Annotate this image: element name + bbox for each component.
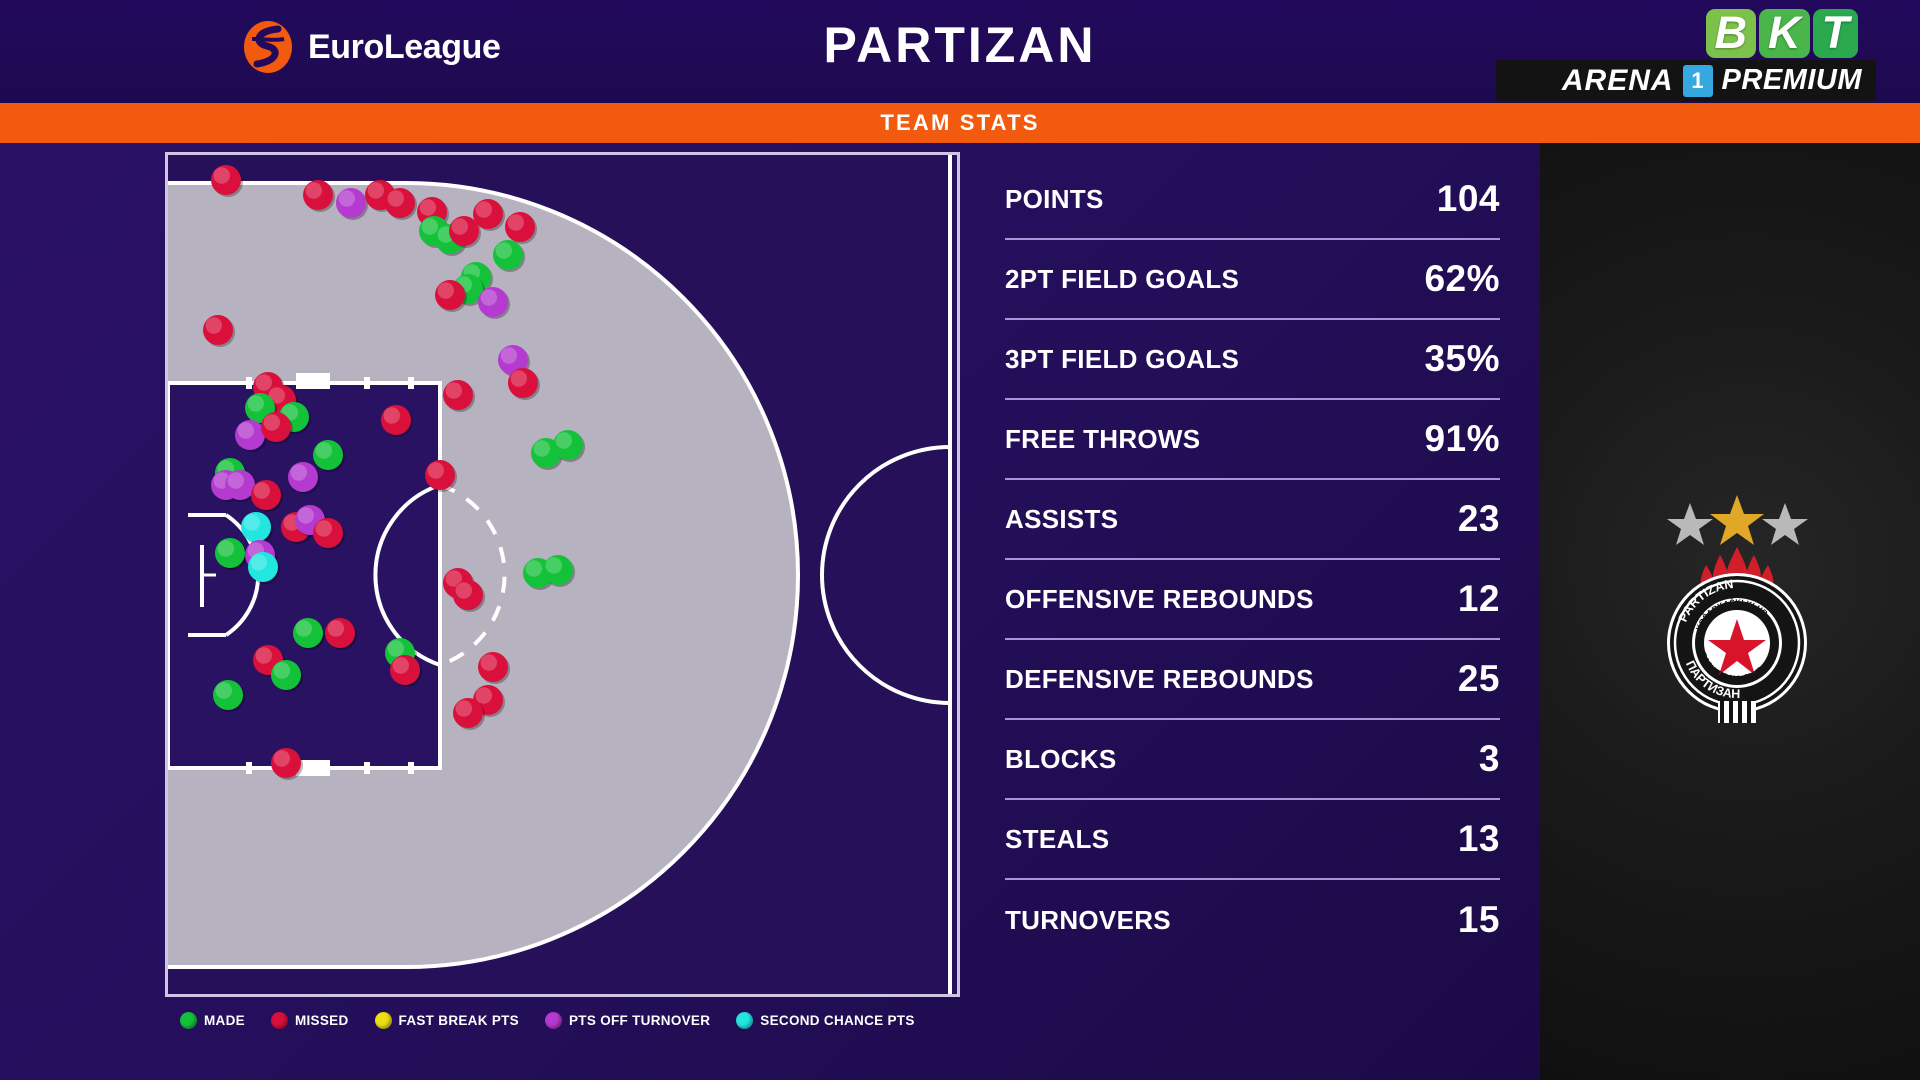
stat-value: 62% [1424, 258, 1500, 300]
bkt-letter-k: K [1759, 9, 1810, 58]
stat-label: FREE THROWS [1005, 424, 1200, 455]
legend-label: SECOND CHANCE PTS [760, 1013, 914, 1028]
stat-row: BLOCKS3 [1005, 720, 1500, 800]
stat-value: 104 [1437, 178, 1500, 220]
shot-chart-legend: MADEMISSEDFAST BREAK PTSPTS OFF TURNOVER… [180, 1005, 970, 1035]
broadcast-graphic: EuroLeague PARTIZAN B K T ARENA 1 PREMIU… [0, 0, 1920, 1080]
channel-number-badge: 1 [1683, 65, 1713, 97]
banner-label: TEAM STATS [880, 110, 1039, 136]
team-stats-list: POINTS1042PT FIELD GOALS62%3PT FIELD GOA… [1005, 160, 1500, 960]
stat-label: 2PT FIELD GOALS [1005, 264, 1239, 295]
stat-row: 2PT FIELD GOALS62% [1005, 240, 1500, 320]
stat-label: 3PT FIELD GOALS [1005, 344, 1239, 375]
stat-value: 91% [1424, 418, 1500, 460]
bkt-letter-t: T [1813, 9, 1859, 58]
top-bar: EuroLeague PARTIZAN B K T ARENA 1 PREMIU… [0, 0, 1920, 103]
stat-label: ASSISTS [1005, 504, 1118, 535]
stat-value: 12 [1458, 578, 1500, 620]
legend-dot-icon [180, 1012, 197, 1029]
team-stats-banner: TEAM STATS [0, 103, 1920, 143]
stat-row: FREE THROWS91% [1005, 400, 1500, 480]
legend-item: MADE [180, 1012, 245, 1029]
arena-label: ARENA [1562, 64, 1674, 98]
stat-label: OFFENSIVE REBOUNDS [1005, 584, 1314, 615]
legend-label: FAST BREAK PTS [399, 1013, 519, 1028]
stat-row: DEFENSIVE REBOUNDS25 [1005, 640, 1500, 720]
crest-base-stripes [1718, 701, 1756, 723]
court-diagram [168, 155, 957, 994]
stat-value: 15 [1458, 899, 1500, 941]
stat-row: OFFENSIVE REBOUNDS12 [1005, 560, 1500, 640]
stat-label: STEALS [1005, 824, 1109, 855]
legend-dot-icon [545, 1012, 562, 1029]
legend-item: FAST BREAK PTS [375, 1012, 519, 1029]
stat-row: 3PT FIELD GOALS35% [1005, 320, 1500, 400]
stat-row: STEALS13 [1005, 800, 1500, 880]
legend-dot-icon [375, 1012, 392, 1029]
stat-row: ASSISTS23 [1005, 480, 1500, 560]
partizan-crest: PARTIZAN ПАРТИЗАН KOŠARKAŠKI KLUB BASKET… [1640, 495, 1835, 725]
stat-row: TURNOVERS15 [1005, 880, 1500, 960]
legend-item: SECOND CHANCE PTS [736, 1012, 914, 1029]
championship-stars [1667, 495, 1808, 545]
shot-chart [165, 152, 960, 997]
stat-value: 3 [1479, 738, 1500, 780]
bkt-letter-b: B [1706, 9, 1757, 58]
legend-dot-icon [271, 1012, 288, 1029]
stat-value: 13 [1458, 818, 1500, 860]
premium-label: PREMIUM [1722, 64, 1862, 97]
stat-value: 25 [1458, 658, 1500, 700]
stat-value: 35% [1424, 338, 1500, 380]
stat-label: TURNOVERS [1005, 905, 1171, 936]
broadcaster-logo: B K T ARENA 1 PREMIUM [1496, 6, 1876, 101]
legend-label: MADE [204, 1013, 245, 1028]
stat-row: POINTS104 [1005, 160, 1500, 240]
stat-value: 23 [1458, 498, 1500, 540]
legend-item: MISSED [271, 1012, 349, 1029]
stat-label: POINTS [1005, 184, 1104, 215]
stat-label: DEFENSIVE REBOUNDS [1005, 664, 1314, 695]
arena-channel-bar: ARENA 1 PREMIUM [1496, 60, 1876, 101]
bkt-wordmark: B K T [1496, 6, 1876, 58]
legend-label: PTS OFF TURNOVER [569, 1013, 710, 1028]
legend-dot-icon [736, 1012, 753, 1029]
legend-item: PTS OFF TURNOVER [545, 1012, 710, 1029]
legend-label: MISSED [295, 1013, 349, 1028]
stat-label: BLOCKS [1005, 744, 1117, 775]
